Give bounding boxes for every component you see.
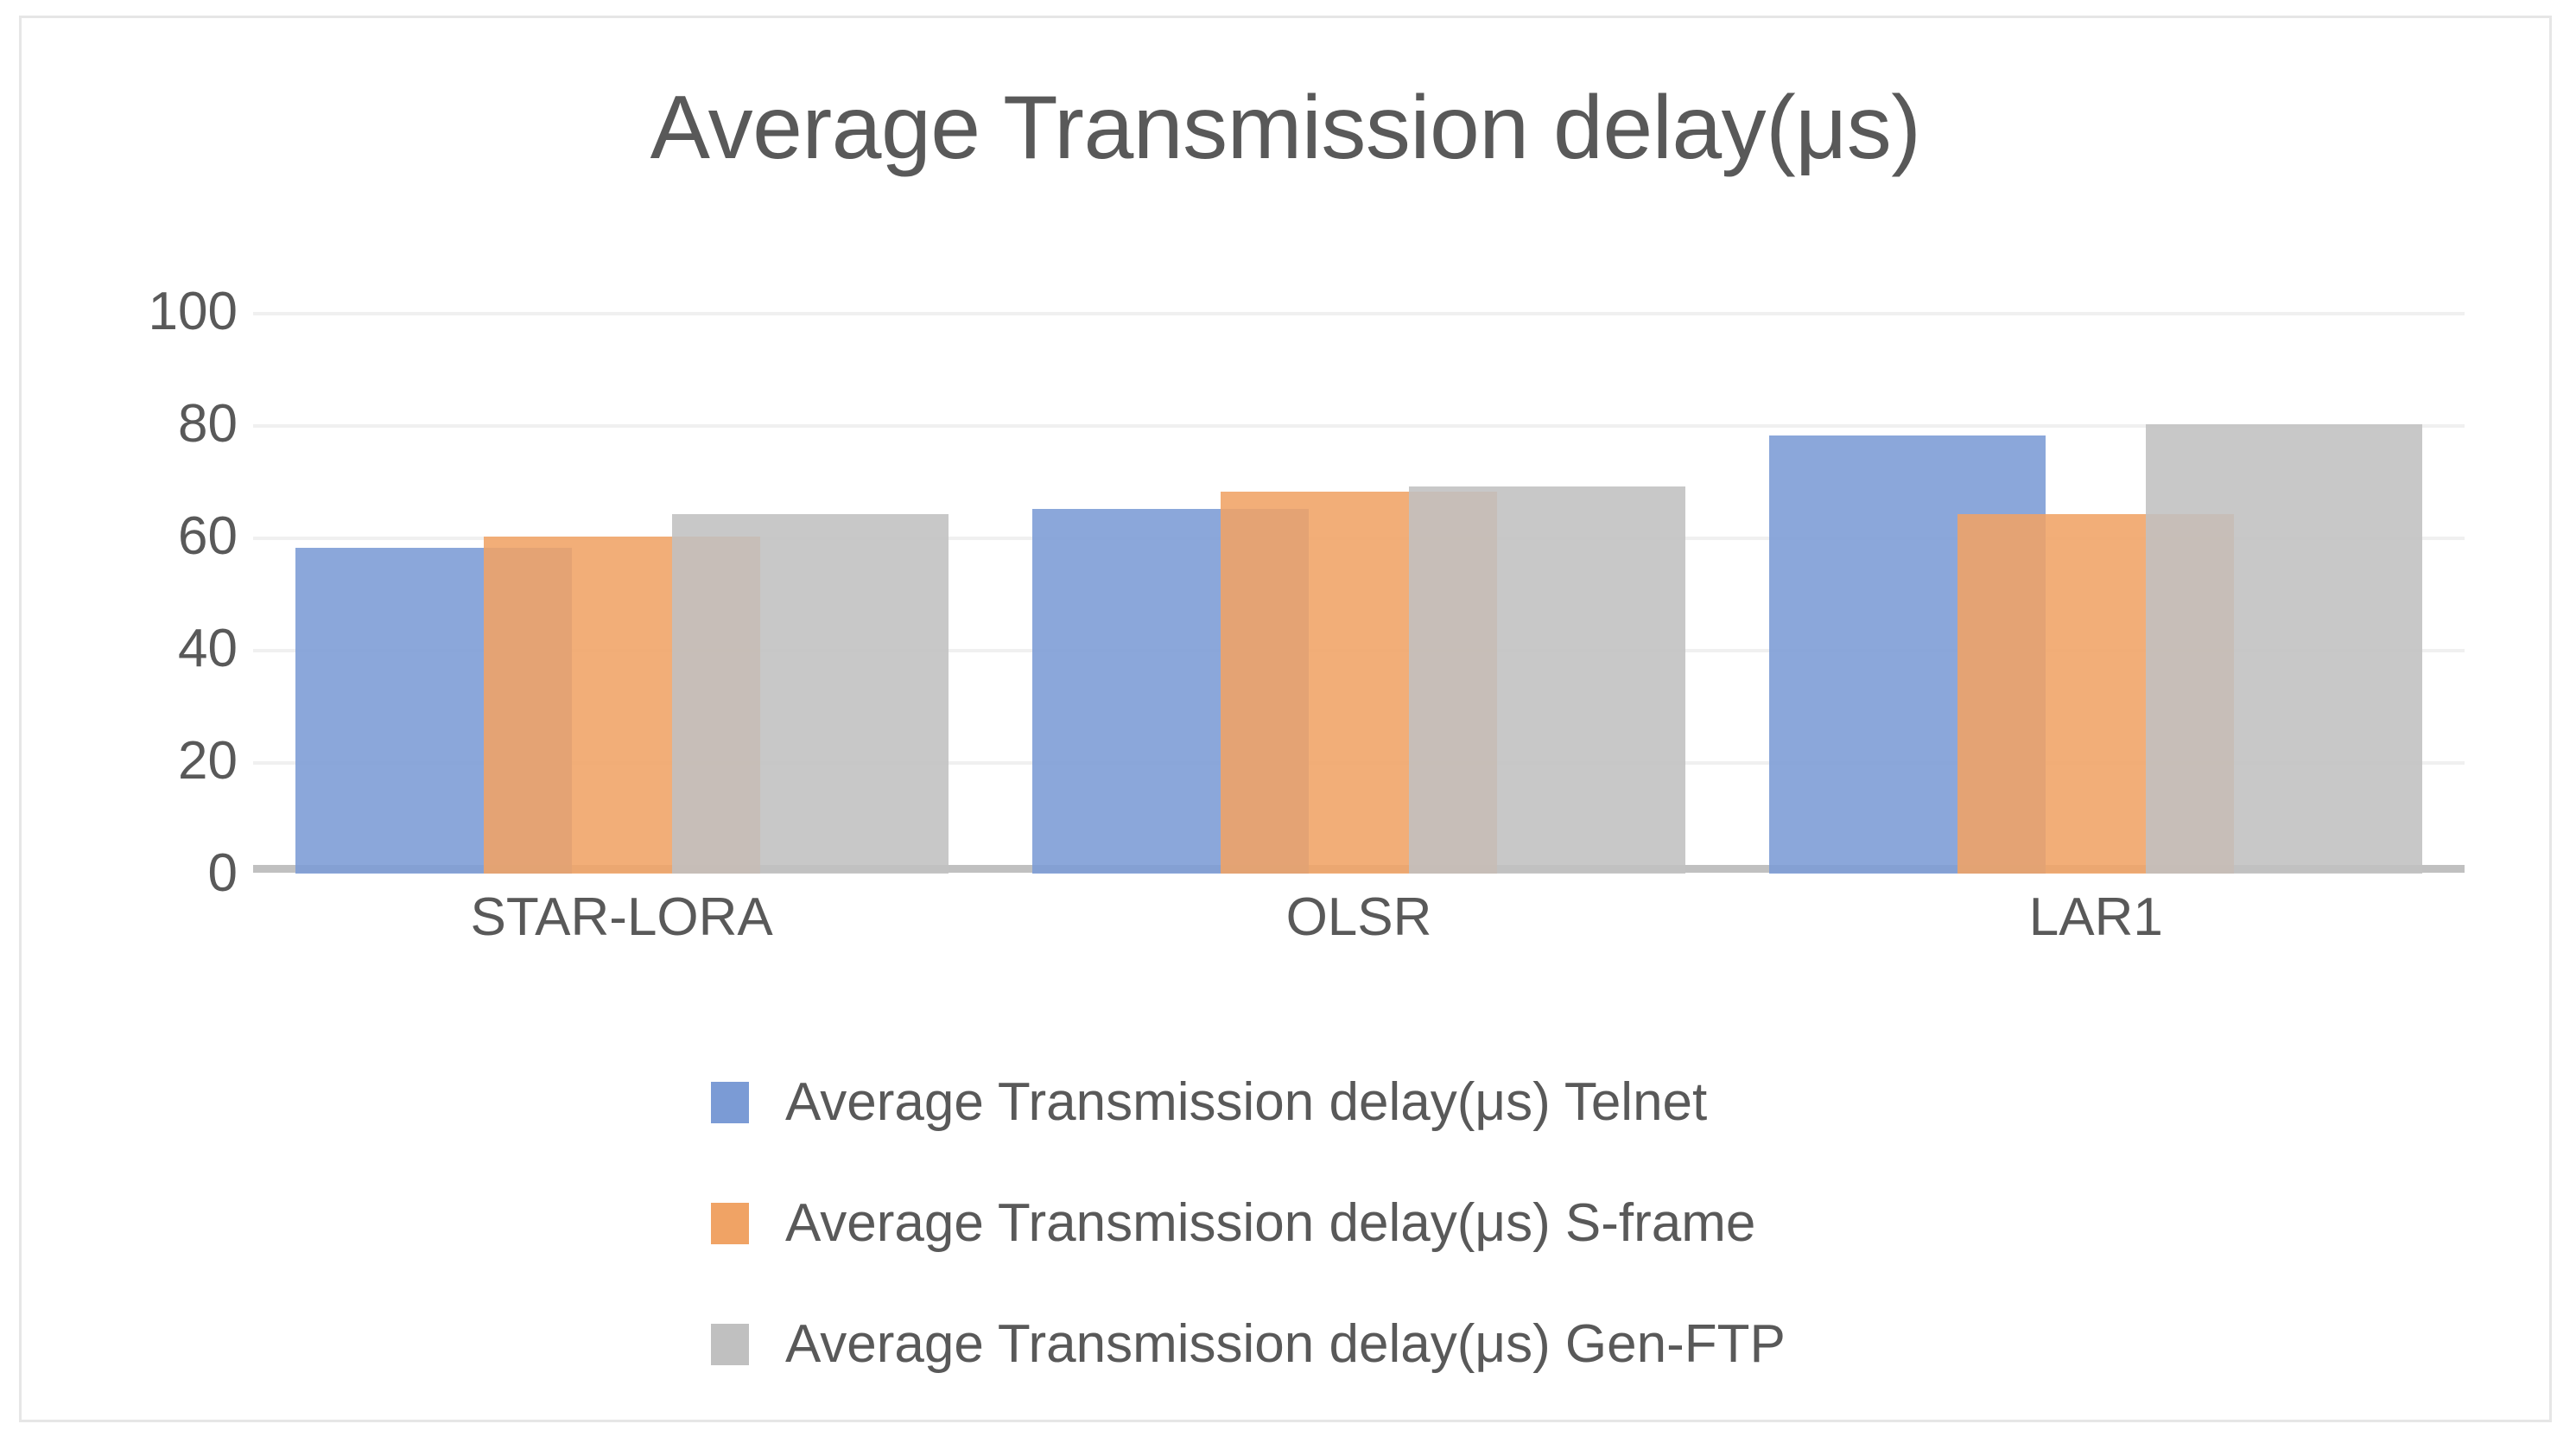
x-tick-label-olsr: OLSR	[1286, 891, 1432, 944]
bar-lar1-series-3[interactable]	[2146, 424, 2422, 874]
x-tick-label-star-lora: STAR-LORA	[471, 891, 773, 944]
legend-label: Average Transmission delay(μs) S-frame	[785, 1197, 1755, 1250]
y-tick-label-100: 100	[149, 285, 238, 339]
legend-swatch-icon	[711, 1324, 749, 1365]
legend-item[interactable]: Average Transmission delay(μs) S-frame	[22, 1163, 2549, 1284]
legend-label: Average Transmission delay(μs) Gen-FTP	[785, 1318, 1786, 1371]
chart-legend: Average Transmission delay(μs) TelnetAve…	[22, 1042, 2549, 1405]
bar-group-star-lora	[295, 312, 949, 874]
chart-title: Average Transmission delay(μs)	[22, 77, 2549, 180]
y-tick-label-20: 20	[178, 734, 238, 788]
y-tick-label-0: 0	[208, 847, 238, 900]
bar-star-lora-series-3[interactable]	[672, 514, 949, 874]
y-tick-label-60: 60	[178, 510, 238, 563]
x-axis-category-labels: STAR-LORAOLSRLAR1	[253, 891, 2465, 969]
y-axis-tick-labels: 020406080100	[73, 312, 238, 874]
legend-item[interactable]: Average Transmission delay(μs) Telnet	[22, 1042, 2549, 1163]
legend-swatch-icon	[711, 1082, 749, 1123]
bar-group-lar1	[1769, 312, 2422, 874]
x-tick-label-lar1: LAR1	[2029, 891, 2163, 944]
bar-olsr-series-3[interactable]	[1409, 486, 1685, 874]
legend-label: Average Transmission delay(μs) Telnet	[785, 1076, 1707, 1129]
bar-groups	[253, 312, 2465, 874]
chart-frame: Average Transmission delay(μs) 020406080…	[19, 16, 2552, 1422]
legend-item[interactable]: Average Transmission delay(μs) Gen-FTP	[22, 1284, 2549, 1405]
bar-group-olsr	[1032, 312, 1685, 874]
y-tick-label-40: 40	[178, 622, 238, 676]
y-tick-label-80: 80	[178, 397, 238, 451]
legend-swatch-icon	[711, 1203, 749, 1244]
